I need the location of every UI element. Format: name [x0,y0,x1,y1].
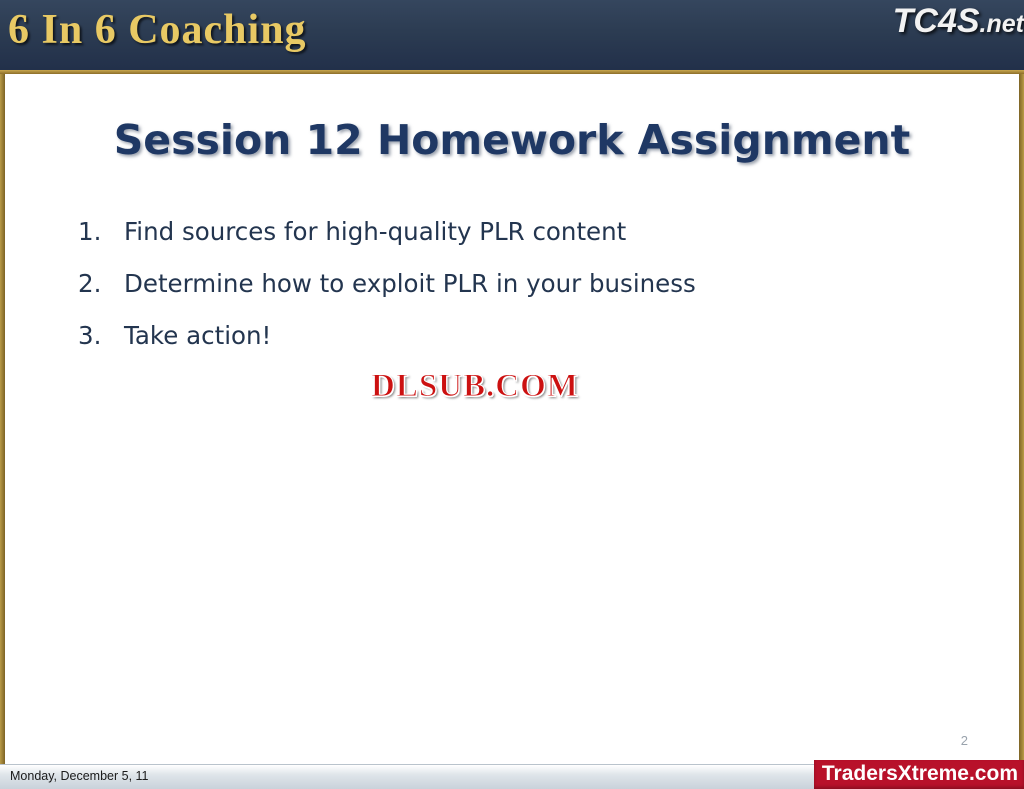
tc4s-logo-text: TC4S [893,2,980,40]
tc4s-logo-suffix: .net [980,10,1024,38]
list-item: 2. Determine how to exploit PLR in your … [78,270,878,298]
homework-task-list: 1. Find sources for high-quality PLR con… [78,218,878,375]
list-item-number: 3. [78,322,124,350]
list-item: 3. Take action! [78,322,878,350]
slide-header-banner: 6 In 6 Coaching TC4S.net [0,0,1024,70]
list-item-label: Find sources for high-quality PLR conten… [124,218,626,246]
tc4s-logo: TC4S.net [893,2,1024,41]
list-item-number: 2. [78,270,124,298]
presentation-slide: 6 In 6 Coaching TC4S.net Session 12 Home… [0,0,1024,788]
left-gold-edge [0,74,5,764]
list-item-label: Take action! [124,322,271,350]
list-item-number: 1. [78,218,124,246]
brand-title: 6 In 6 Coaching [8,6,307,54]
list-item: 1. Find sources for high-quality PLR con… [78,218,878,246]
header-gold-rule [0,70,1024,74]
page-number: 2 [961,733,968,748]
right-gold-edge [1019,74,1024,764]
tradersxtreme-logo: TradersXtreme.com [814,760,1024,789]
list-item-label: Determine how to exploit PLR in your bus… [124,270,696,298]
page-title: Session 12 Homework Assignment [0,116,1024,164]
footer-date: Monday, December 5, 11 [10,769,149,783]
dlsub-watermark: DLSUB.COM [371,368,579,405]
